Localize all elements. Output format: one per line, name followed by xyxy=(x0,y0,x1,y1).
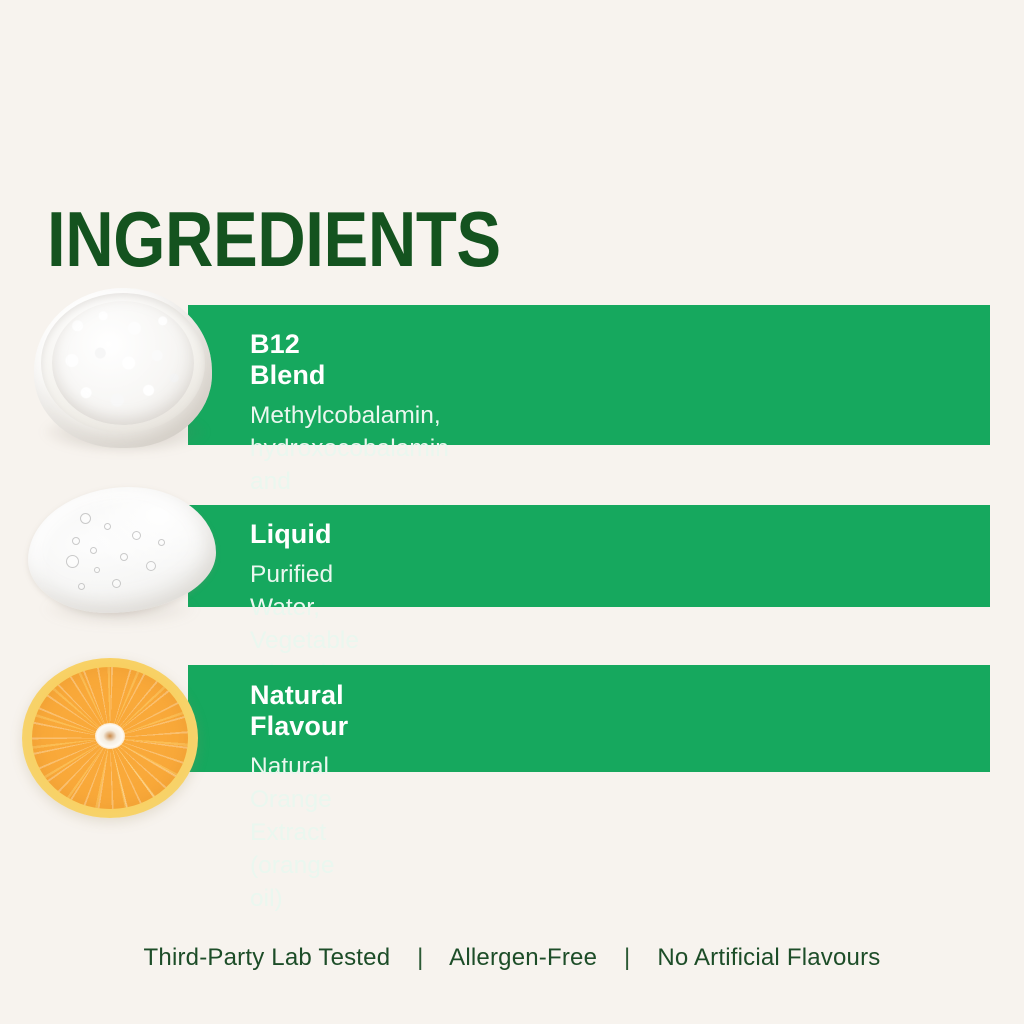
badge-separator: | xyxy=(624,944,630,972)
bubble-icon xyxy=(78,583,85,590)
orange-slice-image xyxy=(22,658,208,826)
bowl-body xyxy=(34,288,212,448)
bubble-icon xyxy=(80,513,91,524)
liquid-blob xyxy=(28,487,216,613)
bubble-icon xyxy=(120,553,128,561)
bubble-icon xyxy=(104,523,111,530)
orange-core xyxy=(95,723,125,749)
bubble-icon xyxy=(146,561,156,571)
badge-separator: | xyxy=(417,944,423,972)
badge-no-artificial-flavours: No Artificial Flavours xyxy=(657,944,880,971)
clear-liquid-droplet-image xyxy=(28,487,218,635)
footer-badges: Third-Party Lab Tested | Allergen-Free |… xyxy=(0,944,1024,972)
bubble-icon xyxy=(112,579,121,588)
badge-allergen-free: Allergen-Free xyxy=(449,944,597,971)
ingredients-infographic: INGREDIENTS B12 Blend Methylcobalamin, h… xyxy=(0,0,1024,1024)
white-powder xyxy=(52,301,194,425)
bubble-icon xyxy=(72,537,80,545)
orange-slice xyxy=(22,658,198,818)
bowl-of-white-powder-image xyxy=(34,288,212,460)
bubble-icon xyxy=(66,555,79,568)
page-title: INGREDIENTS xyxy=(47,198,501,280)
bubble-icon xyxy=(90,547,97,554)
badge-third-party-lab-tested: Third-Party Lab Tested xyxy=(144,944,391,971)
bubble-icon xyxy=(158,539,165,546)
bubble-icon xyxy=(94,567,100,573)
bubble-icon xyxy=(132,531,141,540)
